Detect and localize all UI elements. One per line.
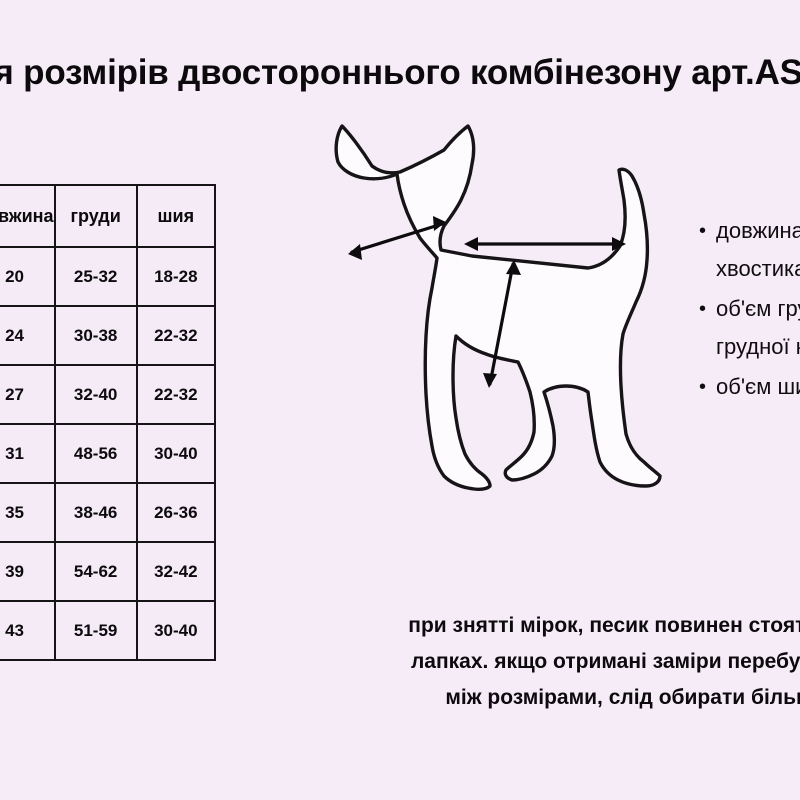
size-table-body: XS2025-3218-28S2430-3822-32M2732-4022-32… xyxy=(0,247,215,660)
cell-chest: 30-38 xyxy=(55,306,137,365)
table-row: L3148-5630-40 xyxy=(0,424,215,483)
cell-neck: 18-28 xyxy=(137,247,215,306)
table-row: S2430-3822-32 xyxy=(0,306,215,365)
measure-list-item-label: об'єм шиї - по нашийнику xyxy=(716,374,800,399)
note-line: лапках. якщо отримані заміри перебувають… xyxy=(330,644,800,680)
measurement-note: при знятті мірок, песик повинен стояти н… xyxy=(330,608,800,716)
cell-length: 24 xyxy=(0,306,55,365)
cell-neck: 26-36 xyxy=(137,483,215,542)
page-title-clip: таблиця розмірів двостороннього комбінез… xyxy=(0,44,800,106)
bullet-icon: • xyxy=(699,290,706,328)
table-header-length: довжина xyxy=(0,185,55,247)
measure-list-item: •довжина спинки - виміряти від шиї до хв… xyxy=(716,212,800,288)
cell-chest: 54-62 xyxy=(55,542,137,601)
measure-list-clip: •довжина спинки - виміряти від шиї до хв… xyxy=(694,212,800,532)
table-row: 2XL3954-6232-42 xyxy=(0,542,215,601)
cell-length: 31 xyxy=(0,424,55,483)
measure-list-item: •об'єм грудей - у найширшому місці грудн… xyxy=(716,290,800,366)
cell-length: 43 xyxy=(0,601,55,660)
note-line: між розмірами, слід обирати більший розм… xyxy=(330,680,800,716)
table-header-neck: шия xyxy=(137,185,215,247)
size-table-clip: розмір довжина груди шия XS2025-3218-28S… xyxy=(0,184,304,664)
cell-neck: 22-32 xyxy=(137,365,215,424)
measure-list-item-label: довжина спинки - виміряти від шиї до хво… xyxy=(716,218,800,281)
cell-chest: 38-46 xyxy=(55,483,137,542)
cell-length: 39 xyxy=(0,542,55,601)
page-title: таблиця розмірів двостороннього комбінез… xyxy=(0,44,800,102)
cell-neck: 30-40 xyxy=(137,601,215,660)
size-table: розмір довжина груди шия XS2025-3218-28S… xyxy=(0,184,216,661)
table-row: 3XL4351-5930-40 xyxy=(0,601,215,660)
table-header-chest: груди xyxy=(55,185,137,247)
cell-neck: 22-32 xyxy=(137,306,215,365)
table-row: XL3538-4626-36 xyxy=(0,483,215,542)
cell-chest: 25-32 xyxy=(55,247,137,306)
note-clip: при знятті мірок, песик повинен стояти н… xyxy=(330,608,800,718)
table-header-row: розмір довжина груди шия xyxy=(0,185,215,247)
bullet-icon: • xyxy=(699,212,706,250)
size-chart-page: таблиця розмірів двостороннього комбінез… xyxy=(0,0,800,800)
cell-chest: 48-56 xyxy=(55,424,137,483)
cell-length: 20 xyxy=(0,247,55,306)
dog-measurement-diagram xyxy=(320,104,720,554)
cell-neck: 32-42 xyxy=(137,542,215,601)
cell-chest: 32-40 xyxy=(55,365,137,424)
cell-neck: 30-40 xyxy=(137,424,215,483)
dog-outline-icon xyxy=(336,126,660,489)
note-line: при знятті мірок, песик повинен стояти н… xyxy=(330,608,800,644)
measure-list: •довжина спинки - виміряти від шиї до хв… xyxy=(694,212,800,406)
cell-length: 35 xyxy=(0,483,55,542)
bullet-icon: • xyxy=(699,368,706,406)
table-row: M2732-4022-32 xyxy=(0,365,215,424)
cell-length: 27 xyxy=(0,365,55,424)
back-length-arrow-icon xyxy=(464,237,626,251)
measure-list-item-label: об'єм грудей - у найширшому місці грудно… xyxy=(716,296,800,359)
measure-list-item: •об'єм шиї - по нашийнику xyxy=(716,368,800,406)
table-row: XS2025-3218-28 xyxy=(0,247,215,306)
cell-chest: 51-59 xyxy=(55,601,137,660)
